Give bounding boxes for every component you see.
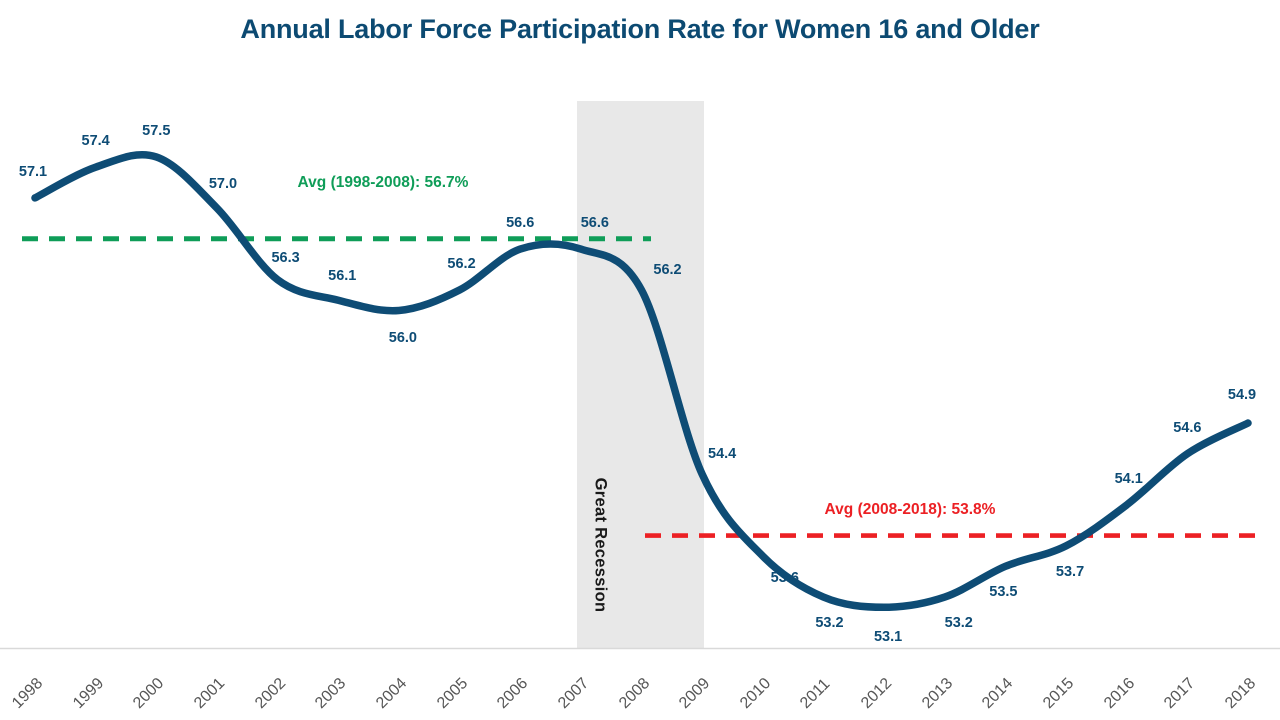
data-point-label: 56.3 <box>271 250 299 266</box>
great-recession-label: Great Recession <box>591 478 610 613</box>
data-point-label: 53.1 <box>874 629 902 645</box>
data-point-label: 56.2 <box>653 262 681 278</box>
data-point-label: 56.0 <box>389 330 417 346</box>
data-point-label: 54.1 <box>1115 471 1143 487</box>
data-point-label: 57.1 <box>19 164 47 180</box>
data-point-label: 56.2 <box>447 256 475 272</box>
data-point-label: 53.5 <box>989 584 1017 600</box>
chart-container: Annual Labor Force Participation Rate fo… <box>0 0 1280 720</box>
data-point-label: 56.1 <box>328 268 356 284</box>
data-point-label: 56.6 <box>581 215 609 231</box>
data-point-label: 54.6 <box>1173 420 1201 436</box>
data-point-label: 53.7 <box>1056 564 1084 580</box>
data-point-label: 53.2 <box>815 615 843 631</box>
avg-1998-2008-label: Avg (1998-2008): 56.7% <box>298 174 469 192</box>
data-point-label: 57.5 <box>142 123 170 139</box>
data-point-label: 57.0 <box>209 176 237 192</box>
data-point-label: 53.6 <box>771 570 799 586</box>
data-point-label: 53.2 <box>945 615 973 631</box>
line-chart-plot <box>0 0 1280 720</box>
avg-2008-2018-label: Avg (2008-2018): 53.8% <box>825 501 996 519</box>
data-point-label: 56.6 <box>506 215 534 231</box>
data-point-label: 57.4 <box>82 133 110 149</box>
data-point-label: 54.4 <box>708 446 736 462</box>
data-point-label: 54.9 <box>1228 387 1256 403</box>
